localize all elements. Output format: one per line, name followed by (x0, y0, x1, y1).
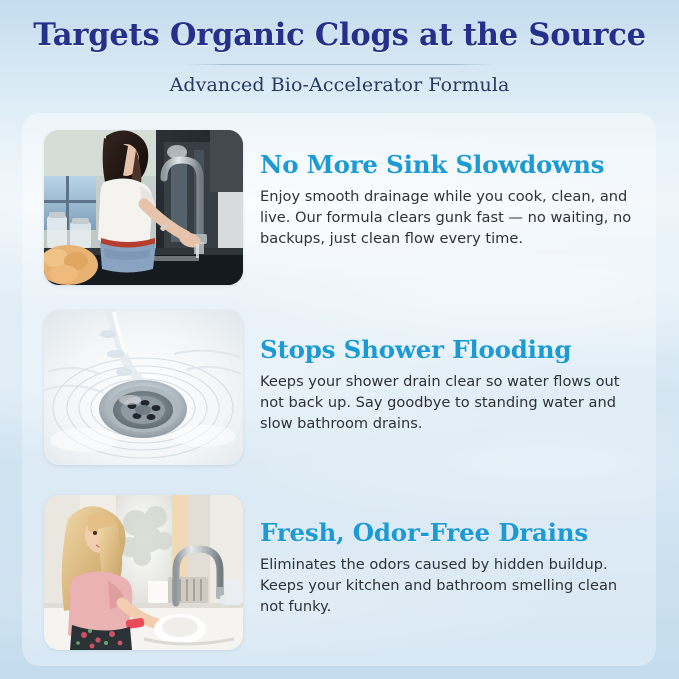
page-title: Targets Organic Clogs at the Source (0, 16, 679, 54)
feature-item-3: Fresh, Odor-Free Drains Eliminates the o… (44, 495, 644, 650)
feature-image-1 (44, 130, 243, 285)
feature-item-2: Stops Shower Flooding Keeps your shower … (44, 310, 644, 465)
feature-text-3: Fresh, Odor-Free Drains Eliminates the o… (243, 495, 644, 618)
feature-title-2: Stops Shower Flooding (260, 336, 644, 363)
feature-text-2: Stops Shower Flooding Keeps your shower … (243, 310, 644, 435)
feature-title-1: No More Sink Slowdowns (260, 151, 644, 178)
feature-image-3 (44, 495, 243, 650)
title-divider (184, 64, 496, 65)
feature-body-3: Eliminates the odors caused by hidden bu… (260, 555, 644, 617)
shower-drain-water-icon (44, 310, 243, 465)
page-subtitle: Advanced Bio-Accelerator Formula (0, 74, 679, 96)
feature-body-2: Keeps your shower drain clear so water f… (260, 372, 644, 434)
woman-kitchen-sink-icon (44, 130, 243, 285)
feature-title-3: Fresh, Odor-Free Drains (260, 519, 644, 546)
feature-item-1: No More Sink Slowdowns Enjoy smooth drai… (44, 130, 644, 285)
feature-text-1: No More Sink Slowdowns Enjoy smooth drai… (243, 130, 644, 250)
feature-body-1: Enjoy smooth drainage while you cook, cl… (260, 187, 644, 249)
feature-image-2 (44, 310, 243, 465)
header: Targets Organic Clogs at the Source Adva… (0, 0, 679, 96)
woman-washing-dishes-icon (44, 495, 243, 650)
